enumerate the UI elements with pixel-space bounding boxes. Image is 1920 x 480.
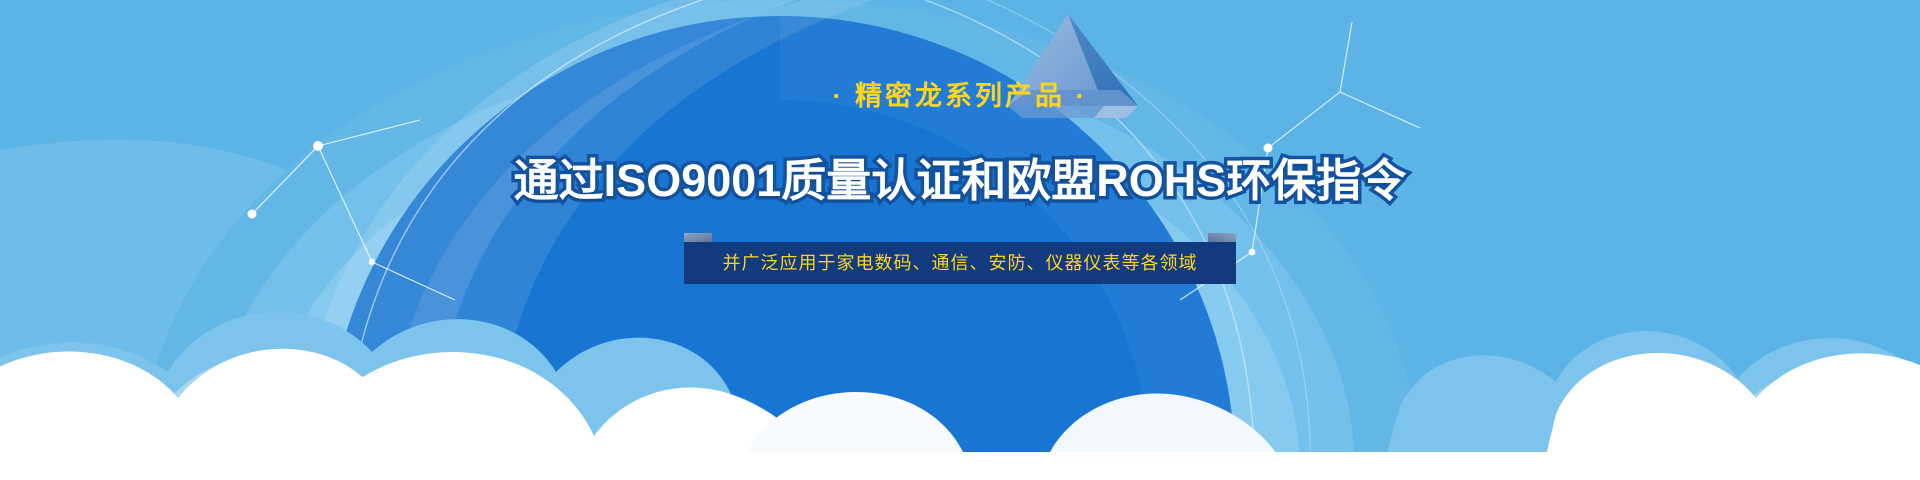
promo-banner: · 精密龙系列产品 · 通过ISO9001质量认证和欧盟ROHS环保指令 并广泛…	[0, 0, 1920, 480]
banner-headline: 通过ISO9001质量认证和欧盟ROHS环保指令	[0, 144, 1920, 209]
banner-ribbon-wrap: 并广泛应用于家电数码、通信、安防、仪器仪表等各领域	[0, 238, 1920, 288]
ribbon-fold-left-icon	[684, 233, 712, 242]
cloud-floor	[0, 452, 1920, 480]
banner-ribbon: 并广泛应用于家电数码、通信、安防、仪器仪表等各领域	[684, 242, 1236, 284]
ribbon-fold-right-icon	[1208, 233, 1236, 242]
banner-eyebrow: · 精密龙系列产品 ·	[0, 74, 1920, 113]
banner-ribbon-label: 并广泛应用于家电数码、通信、安防、仪器仪表等各领域	[723, 254, 1198, 272]
